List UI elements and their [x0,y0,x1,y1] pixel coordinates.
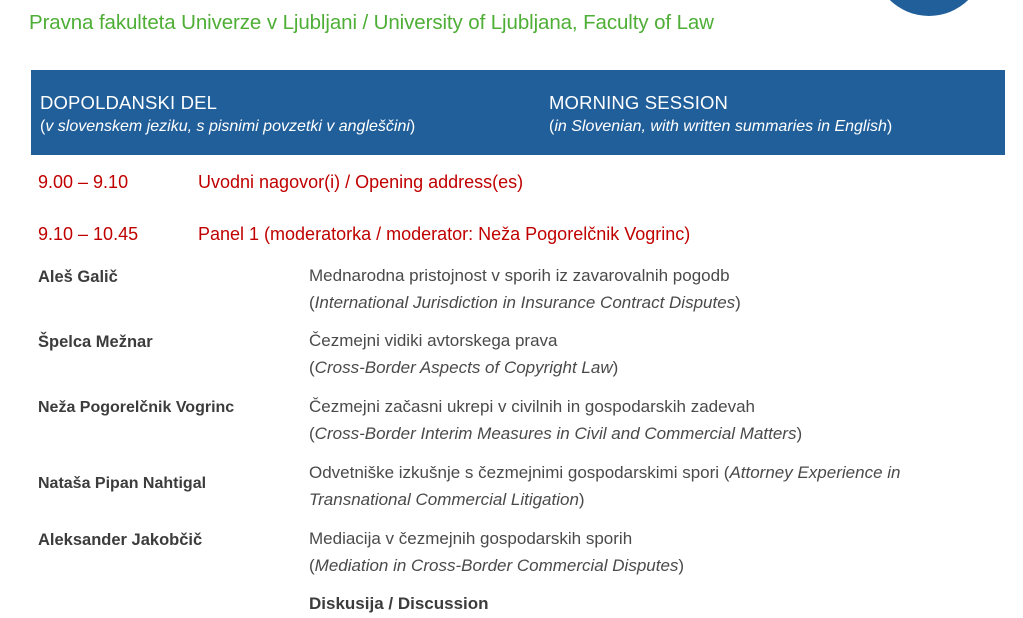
page-title: Pravna fakulteta Univerze v Ljubljani / … [29,10,714,36]
speaker-title-sl: Čezmejni vidiki avtorskega prava [309,331,558,350]
speaker-title-en: International Jurisdiction in Insurance … [315,293,736,312]
speaker-title-sl: Mednarodna pristojnost v sporih iz zavar… [309,266,730,285]
speaker-title: Odvetniške izkušnje s čezmejnimi gospoda… [309,459,999,513]
paren-close: ) [410,118,415,135]
paren-close: ) [613,358,619,377]
speaker-title-sl: Mediacija v čezmejnih gospodarskih spori… [309,529,632,548]
decorative-arc-icon [873,0,985,16]
paren-close: ) [579,490,585,509]
paren-close: ) [735,293,741,312]
time-description: Uvodni nagovor(i) / Opening address(es) [198,170,523,194]
paren-close: ) [678,556,684,575]
speaker-title: Čezmejni začasni ukrepi v civilnih in go… [309,393,1009,447]
time-label: 9.00 – 9.10 [38,170,128,194]
speaker-title: Mednarodna pristojnost v sporih iz zavar… [309,262,949,316]
session-subtitle-sl: (v slovenskem jeziku, s pisnimi povzetki… [40,115,415,138]
speaker-title-en: Mediation in Cross-Border Commercial Dis… [315,556,679,575]
speaker-name: Neža Pogorelčnik Vogrinc [38,397,234,419]
session-subtitle-en-text: in Slovenian, with written summaries in … [554,118,887,135]
session-column-english: MORNING SESSION (in Slovenian, with writ… [549,91,892,138]
session-heading-en: MORNING SESSION [549,91,892,115]
paren-close: ) [796,424,802,443]
session-subtitle-en: (in Slovenian, with written summaries in… [549,115,892,138]
session-column-slovenian: DOPOLDANSKI DEL (v slovenskem jeziku, s … [40,91,415,138]
speaker-title-en: Cross-Border Interim Measures in Civil a… [315,424,797,443]
speaker-name: Aleš Galič [38,266,118,288]
speaker-title-sl: Čezmejni začasni ukrepi v civilnih in go… [309,397,755,416]
session-heading-sl: DOPOLDANSKI DEL [40,91,415,115]
discussion-label: Diskusija / Discussion [309,592,489,616]
speaker-name: Aleksander Jakobčič [38,529,202,551]
speaker-title-en: Cross-Border Aspects of Copyright Law [315,358,613,377]
speaker-title: Mediacija v čezmejnih gospodarskih spori… [309,525,949,579]
speaker-title: Čezmejni vidiki avtorskega prava(Cross-B… [309,327,949,381]
session-subtitle-sl-text: v slovenskem jeziku, s pisnimi povzetki … [45,118,410,135]
speaker-title-sl: Odvetniške izkušnje s čezmejnimi gospoda… [309,463,724,482]
speaker-name: Nataša Pipan Nahtigal [38,473,206,495]
session-header-band: DOPOLDANSKI DEL (v slovenskem jeziku, s … [31,70,1005,155]
speaker-name: Špelca Mežnar [38,331,153,353]
time-description: Panel 1 (moderatorka / moderator: Neža P… [198,222,690,246]
time-label: 9.10 – 10.45 [38,222,138,246]
paren-close: ) [887,118,892,135]
